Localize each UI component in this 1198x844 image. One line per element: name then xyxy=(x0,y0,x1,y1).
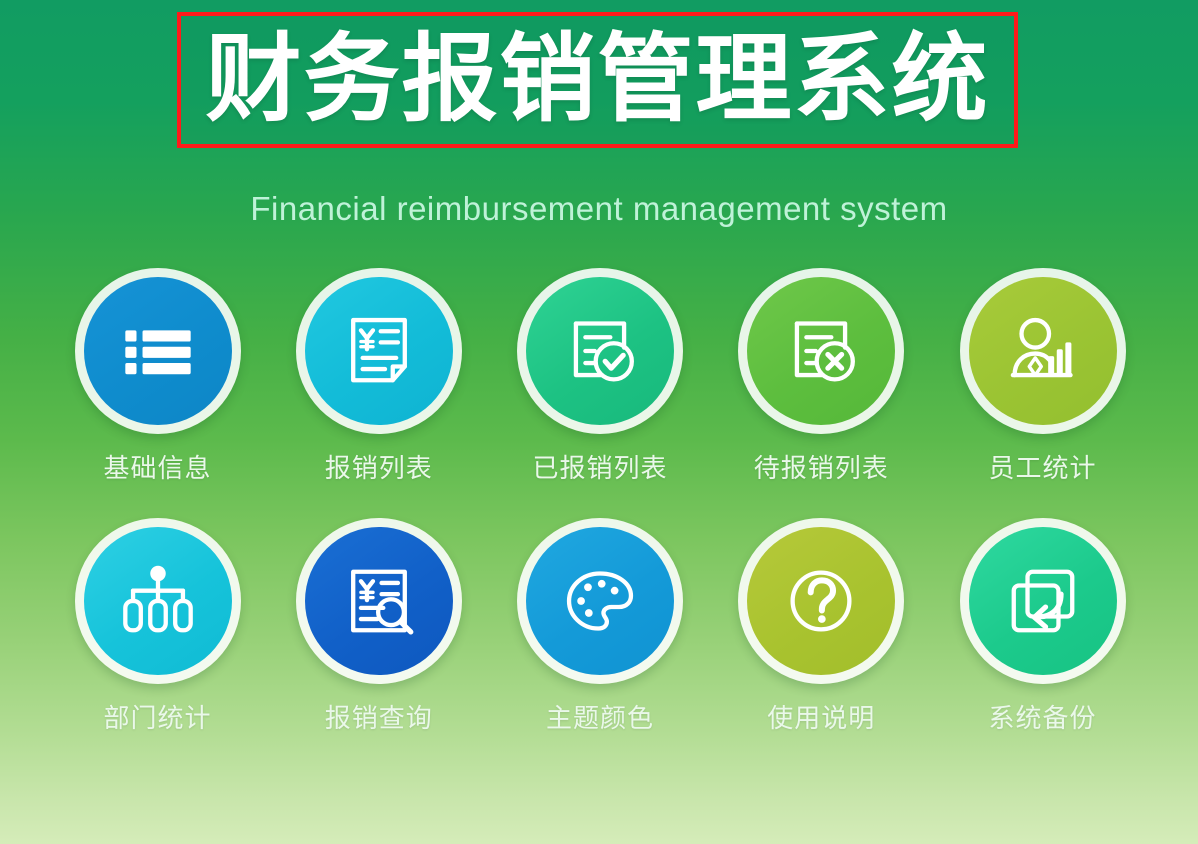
document-x-icon xyxy=(778,308,864,394)
menu-grid: 基础信息 xyxy=(55,268,1145,735)
menu-item-system-backup[interactable]: 系统备份 xyxy=(940,518,1145,735)
icon-disc xyxy=(969,277,1117,425)
menu-row-2: 部门统计 xyxy=(55,518,1145,735)
menu-item-label: 基础信息 xyxy=(103,448,211,485)
app-root: 财务报销管理系统 Financial reimbursement managem… xyxy=(0,0,1198,844)
menu-item-pending-list[interactable]: 待报销列表 xyxy=(719,268,924,485)
employee-chart-icon xyxy=(1000,308,1086,394)
document-check-icon xyxy=(557,308,643,394)
menu-item-label: 员工统计 xyxy=(988,448,1096,485)
menu-item-theme-color[interactable]: 主题颜色 xyxy=(498,518,703,735)
menu-item-reimbursement-list[interactable]: 报销列表 xyxy=(276,268,481,485)
palette-icon xyxy=(557,558,643,644)
menu-item-label: 已报销列表 xyxy=(532,448,667,485)
icon-button-basic-info[interactable] xyxy=(75,268,241,434)
icon-button-theme-color[interactable] xyxy=(517,518,683,684)
icon-disc xyxy=(526,527,674,675)
page-subtitle: Financial reimbursement management syste… xyxy=(0,190,1198,228)
menu-item-label: 待报销列表 xyxy=(754,448,889,485)
menu-item-usage-instructions[interactable]: 使用说明 xyxy=(719,518,924,735)
menu-item-department-stats[interactable]: 部门统计 xyxy=(55,518,260,735)
invoice-document-icon xyxy=(336,308,422,394)
menu-item-reimbursed-list[interactable]: 已报销列表 xyxy=(498,268,703,485)
menu-item-label: 系统备份 xyxy=(988,698,1096,735)
icon-disc xyxy=(969,527,1117,675)
icon-disc xyxy=(747,277,895,425)
menu-item-reimbursement-query[interactable]: 报销查询 xyxy=(276,518,481,735)
icon-button-pending-list[interactable] xyxy=(738,268,904,434)
icon-button-reimbursement-list[interactable] xyxy=(296,268,462,434)
menu-item-employee-stats[interactable]: 员工统计 xyxy=(940,268,1145,485)
list-icon xyxy=(115,308,201,394)
backup-restore-icon xyxy=(1000,558,1086,644)
icon-disc xyxy=(747,527,895,675)
icon-disc xyxy=(84,527,232,675)
icon-disc xyxy=(305,277,453,425)
page-title: 财务报销管理系统 xyxy=(206,32,990,128)
menu-item-label: 主题颜色 xyxy=(546,698,654,735)
menu-item-basic-info[interactable]: 基础信息 xyxy=(55,268,260,485)
menu-item-label: 报销查询 xyxy=(325,698,433,735)
menu-item-label: 部门统计 xyxy=(103,698,211,735)
icon-button-system-backup[interactable] xyxy=(960,518,1126,684)
icon-disc xyxy=(305,527,453,675)
icon-button-usage-instructions[interactable] xyxy=(738,518,904,684)
menu-item-label: 使用说明 xyxy=(767,698,875,735)
org-chart-icon xyxy=(115,558,201,644)
invoice-search-icon xyxy=(336,558,422,644)
icon-disc xyxy=(526,277,674,425)
icon-disc xyxy=(84,277,232,425)
icon-button-department-stats[interactable] xyxy=(75,518,241,684)
icon-button-reimbursed-list[interactable] xyxy=(517,268,683,434)
icon-button-employee-stats[interactable] xyxy=(960,268,1126,434)
question-circle-icon xyxy=(778,558,864,644)
menu-item-label: 报销列表 xyxy=(325,448,433,485)
icon-button-reimbursement-query[interactable] xyxy=(296,518,462,684)
title-banner: 财务报销管理系统 xyxy=(177,12,1018,148)
menu-row-1: 基础信息 xyxy=(55,268,1145,485)
